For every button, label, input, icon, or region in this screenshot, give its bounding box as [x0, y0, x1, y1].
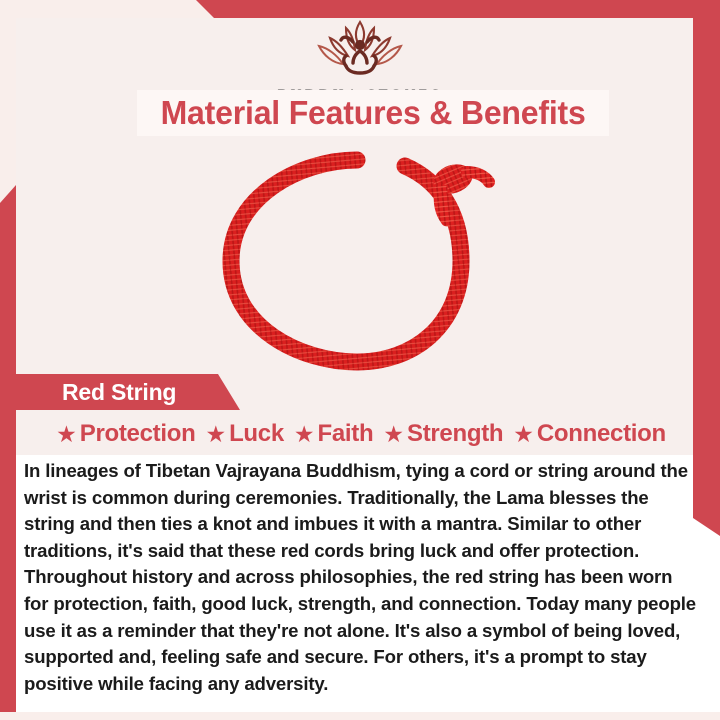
- star-icon: ★: [383, 423, 404, 446]
- feature-item-connection: ★ Connection: [513, 420, 666, 448]
- feature-item-strength: ★ Strength: [383, 420, 503, 448]
- page-title: Material Features & Benefits: [160, 94, 585, 132]
- description-text: In lineages of Tibetan Vajrayana Buddhis…: [24, 458, 696, 697]
- feature-label: Strength: [407, 420, 503, 448]
- left-red-strip: [0, 185, 16, 720]
- product-image-area: [16, 140, 693, 380]
- product-name-banner: Red String: [0, 374, 240, 410]
- star-icon: ★: [294, 423, 315, 446]
- bottom-edge: [0, 712, 720, 720]
- feature-item-luck: ★ Luck: [205, 420, 283, 448]
- star-icon: ★: [56, 423, 77, 446]
- feature-item-protection: ★ Protection: [56, 420, 195, 448]
- red-braided-string-bracelet-image: [205, 148, 505, 373]
- lotus-meditation-icon: [285, 16, 435, 84]
- page-title-band: Material Features & Benefits: [137, 90, 609, 136]
- feature-item-faith: ★ Faith: [294, 420, 373, 448]
- product-name-label: Red String: [62, 379, 176, 406]
- star-icon: ★: [205, 423, 226, 446]
- feature-label: Connection: [537, 420, 666, 448]
- feature-label: Faith: [318, 420, 374, 448]
- star-icon: ★: [513, 423, 534, 446]
- product-info-poster: BUDDHA STONES Material Features & Benefi…: [0, 0, 720, 720]
- feature-label: Protection: [80, 420, 196, 448]
- feature-label: Luck: [229, 420, 284, 448]
- feature-list: ★ Protection ★ Luck ★ Faith ★ Strength ★…: [16, 420, 706, 448]
